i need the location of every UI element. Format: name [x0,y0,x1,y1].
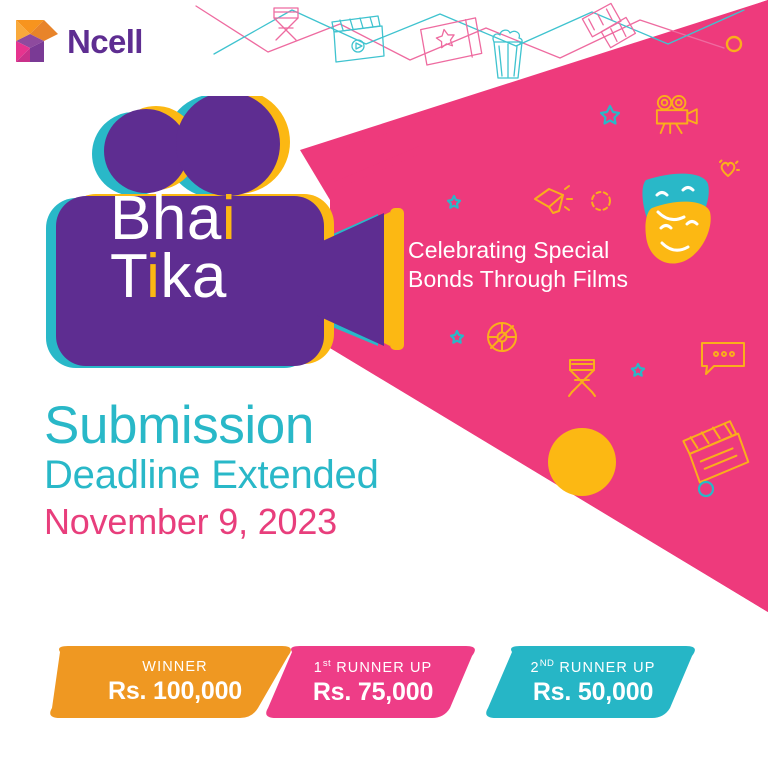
poster-canvas: Ncell Bhai Tika Celebrati [0,0,768,768]
headline-block: Submission Deadline Extended November 9,… [44,398,379,543]
camera-title-line2: Tika [110,248,236,306]
prize-rank-winner: WINNER [142,660,207,675]
tagline-line1: Celebrating Special [408,236,698,265]
tagline: Celebrating Special Bonds Through Films [408,236,698,295]
headline-deadline-extended: Deadline Extended [44,453,379,498]
orange-circle-icon [548,428,616,496]
prize-rank-first-runner-up: 1st RUNNER UP [314,659,433,675]
ncell-wordmark: Ncell [67,25,143,58]
headline-date: November 9, 2023 [44,500,379,543]
prize-amount-first-runner-up: Rs. 75,000 [313,680,433,705]
prize-amount-second-runner-up: Rs. 50,000 [533,680,653,705]
ncell-logo[interactable]: Ncell [14,18,143,64]
prize-rank-second-runner-up: 2ND RUNNER UP [531,659,656,675]
prize-banner-winner: WINNER Rs. 100,000 [46,646,296,718]
prize-banner-second-runner-up: 2ND RUNNER UP Rs. 50,000 [482,646,700,718]
movie-camera-icon [38,96,438,386]
prize-amount-winner: Rs. 100,000 [108,679,242,704]
headline-submission: Submission [44,398,379,453]
camera-title: Bhai Tika [110,190,236,305]
ncell-arrow-mark-icon [14,18,58,64]
prize-banner-group: WINNER Rs. 100,000 1st RUNNER UP Rs. 75,… [0,646,768,732]
tika-i-dot: i [146,242,160,311]
tagline-line2: Bonds Through Films [408,265,698,294]
prize-banner-first-runner-up: 1st RUNNER UP Rs. 75,000 [262,646,480,718]
